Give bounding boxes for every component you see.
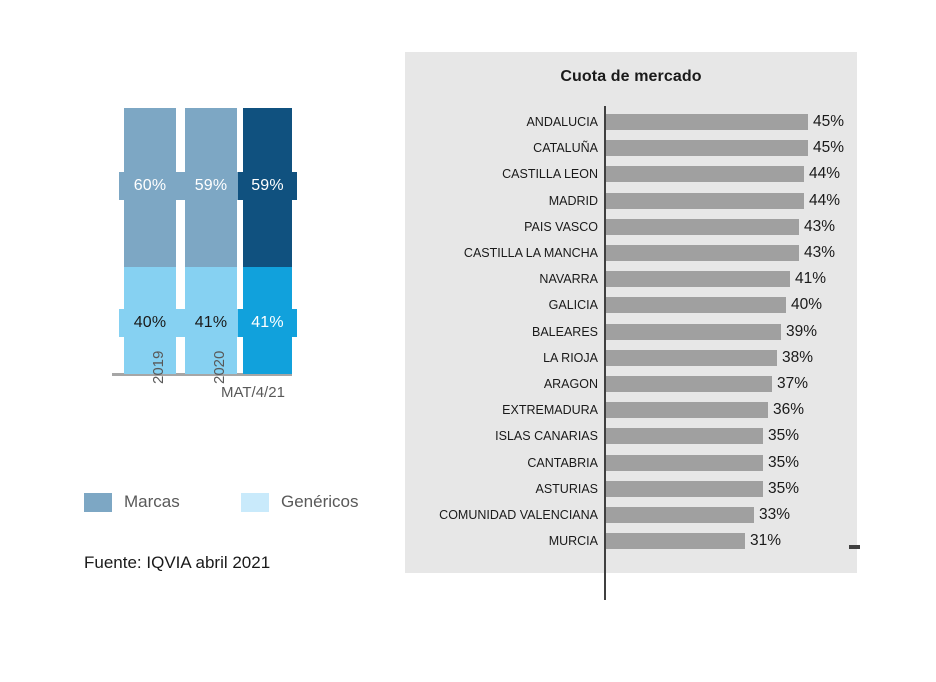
region-label: NAVARRA [405, 271, 598, 287]
region-value: 35% [768, 428, 799, 444]
market-share-row[interactable]: MURCIA31% [405, 528, 857, 554]
market-share-row[interactable]: PAIS VASCO43% [405, 214, 857, 240]
region-value: 44% [809, 193, 840, 209]
region-label: GALICIA [405, 297, 598, 313]
market-share-row[interactable]: CASTILLA LEON44% [405, 161, 857, 187]
region-label: COMUNIDAD VALENCIANA [405, 507, 598, 523]
region-label: ARAGON [405, 376, 598, 392]
region-value: 37% [777, 376, 808, 392]
region-bar[interactable] [606, 245, 799, 261]
legend-item-marcas[interactable]: Marcas [84, 492, 180, 512]
region-value: 33% [759, 507, 790, 523]
datalabel-marcas-2019: 60% [119, 172, 181, 200]
region-value: 43% [804, 245, 835, 261]
chart-legend: Marcas Genéricos [84, 492, 384, 516]
market-share-row[interactable]: LA RIOJA38% [405, 345, 857, 371]
region-label: ANDALUCIA [405, 114, 598, 130]
market-share-row[interactable]: EXTREMADURA36% [405, 397, 857, 423]
region-value: 31% [750, 533, 781, 549]
region-bar[interactable] [606, 376, 772, 392]
panel-title: Cuota de mercado [405, 68, 857, 86]
corner-tick-mark [849, 545, 860, 549]
market-share-row[interactable]: COMUNIDAD VALENCIANA33% [405, 502, 857, 528]
region-bar[interactable] [606, 114, 808, 130]
region-bar[interactable] [606, 455, 763, 471]
region-bar[interactable] [606, 428, 763, 444]
market-share-row[interactable]: CATALUÑA45% [405, 135, 857, 161]
region-label: EXTREMADURA [405, 402, 598, 418]
legend-swatch-genericos [241, 493, 269, 512]
legend-label-genericos: Genéricos [281, 492, 358, 512]
market-share-row[interactable]: CASTILLA LA MANCHA43% [405, 240, 857, 266]
column-2020[interactable]: 59% 41% [185, 108, 237, 374]
region-label: CASTILLA LEON [405, 166, 598, 182]
region-value: 39% [786, 324, 817, 340]
region-value: 41% [795, 271, 826, 287]
market-share-row[interactable]: BALEARES39% [405, 319, 857, 345]
region-value: 45% [813, 114, 844, 130]
region-label: CANTABRIA [405, 455, 598, 471]
axis-label-2019: 2019 [150, 351, 167, 384]
market-share-row[interactable]: ASTURIAS35% [405, 476, 857, 502]
region-label: CASTILLA LA MANCHA [405, 245, 598, 261]
region-value: 44% [809, 166, 840, 182]
region-bar[interactable] [606, 402, 768, 418]
source-note: Fuente: IQVIA abril 2021 [84, 553, 270, 573]
legend-label-marcas: Marcas [124, 492, 180, 512]
region-bar[interactable] [606, 193, 804, 209]
column-2019[interactable]: 60% 40% [124, 108, 176, 374]
legend-swatch-marcas [84, 493, 112, 512]
market-share-row[interactable]: NAVARRA41% [405, 266, 857, 292]
market-share-row[interactable]: GALICIA40% [405, 292, 857, 318]
stacked-column-chart: 60% 40% 59% 41% 59% 41% 2019 2020 MAT/4/… [0, 0, 400, 682]
region-label: PAIS VASCO [405, 219, 598, 235]
region-bar[interactable] [606, 533, 745, 549]
region-value: 43% [804, 219, 835, 235]
region-value: 45% [813, 140, 844, 156]
region-label: LA RIOJA [405, 350, 598, 366]
region-bar[interactable] [606, 166, 804, 182]
region-label: ASTURIAS [405, 481, 598, 497]
region-value: 36% [773, 402, 804, 418]
region-bar[interactable] [606, 140, 808, 156]
market-share-panel: Cuota de mercado ANDALUCIA45%CATALUÑA45%… [405, 52, 857, 573]
region-value: 38% [782, 350, 813, 366]
region-bar[interactable] [606, 507, 754, 523]
region-label: BALEARES [405, 324, 598, 340]
region-value: 35% [768, 455, 799, 471]
datalabel-genericos-2020: 41% [180, 309, 242, 337]
region-bar[interactable] [606, 350, 777, 366]
axis-label-2020: 2020 [211, 351, 228, 384]
region-label: CATALUÑA [405, 140, 598, 156]
region-value: 35% [768, 481, 799, 497]
market-share-rows: ANDALUCIA45%CATALUÑA45%CASTILLA LEON44%M… [405, 109, 857, 554]
market-share-row[interactable]: MADRID44% [405, 188, 857, 214]
legend-item-genericos[interactable]: Genéricos [241, 492, 358, 512]
market-share-row[interactable]: ARAGON37% [405, 371, 857, 397]
stacked-column-plot-area: 60% 40% 59% 41% 59% 41% [112, 108, 298, 374]
region-bar[interactable] [606, 271, 790, 287]
region-label: ISLAS CANARIAS [405, 428, 598, 444]
datalabel-marcas-2020: 59% [180, 172, 242, 200]
market-share-row[interactable]: ANDALUCIA45% [405, 109, 857, 135]
market-share-row[interactable]: ISLAS CANARIAS35% [405, 423, 857, 449]
datalabel-genericos-2019: 40% [119, 309, 181, 337]
market-share-row[interactable]: CANTABRIA35% [405, 449, 857, 475]
region-bar[interactable] [606, 481, 763, 497]
region-label: MURCIA [405, 533, 598, 549]
region-label: MADRID [405, 193, 598, 209]
region-value: 40% [791, 297, 822, 313]
datalabel-marcas-mat-4-21: 59% [238, 172, 297, 200]
region-bar[interactable] [606, 219, 799, 235]
column-mat-4-21[interactable]: 59% 41% [243, 108, 292, 374]
axis-label-mat-4-21: MAT/4/21 [221, 384, 285, 401]
region-bar[interactable] [606, 324, 781, 340]
region-bar[interactable] [606, 297, 786, 313]
datalabel-genericos-mat-4-21: 41% [238, 309, 297, 337]
